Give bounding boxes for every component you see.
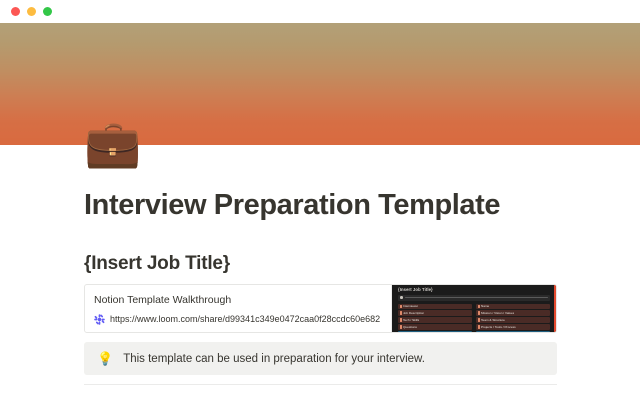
thumbnail-row: Interviewer bbox=[398, 304, 472, 310]
divider bbox=[84, 384, 557, 385]
thumbnail-left-column: Interviewer Job Description Tech / Skill… bbox=[398, 304, 472, 333]
window-titlebar bbox=[0, 0, 640, 23]
maximize-button[interactable] bbox=[43, 7, 52, 16]
row-label: Team & Structure bbox=[481, 318, 505, 322]
thumbnail-callout-icon bbox=[400, 296, 403, 299]
page-body: Interview Preparation Template {Insert J… bbox=[0, 145, 640, 400]
minimize-button[interactable] bbox=[27, 7, 36, 16]
thumbnail-heading: {Insert Job Title} bbox=[398, 287, 550, 293]
thumbnail-row: Name bbox=[476, 304, 550, 310]
lightbulb-icon: 💡 bbox=[97, 351, 113, 367]
thumbnail-columns: Interviewer Job Description Tech / Skill… bbox=[398, 304, 550, 333]
row-label: Mission / Vision / Values bbox=[481, 311, 514, 315]
thumbnail-row: Projects / Tools / Process bbox=[476, 324, 550, 330]
bookmark-text-area: Notion Template Walkthrough bbox=[85, 285, 391, 332]
close-button[interactable] bbox=[11, 7, 20, 16]
browser-window: 💼 Interview Preparation Template {Insert… bbox=[0, 0, 640, 400]
row-chip bbox=[478, 311, 480, 315]
bookmark-card[interactable]: Notion Template Walkthrough bbox=[84, 284, 557, 333]
bookmark-url-row: https://www.loom.com/share/d99341c349e04… bbox=[94, 313, 381, 325]
bookmark-thumbnail[interactable]: {Insert Job Title} Interviewer bbox=[391, 285, 556, 332]
row-label: Job Description bbox=[403, 311, 424, 315]
bookmark-title: Notion Template Walkthrough bbox=[94, 293, 381, 307]
thumbnail-row: Take Notes bbox=[398, 331, 472, 332]
row-chip bbox=[400, 311, 402, 315]
page-title[interactable]: Interview Preparation Template bbox=[84, 189, 500, 222]
thumbnail-row: Follow-up Questions bbox=[476, 331, 550, 332]
thumbnail-callout-textbar bbox=[405, 297, 549, 299]
bookmark-url[interactable]: https://www.loom.com/share/d99341c349e04… bbox=[110, 313, 380, 325]
thumbnail-row: Team & Structure bbox=[476, 317, 550, 323]
row-label: Name bbox=[481, 304, 489, 308]
row-chip bbox=[478, 325, 480, 329]
thumbnail-preview-content: {Insert Job Title} Interviewer bbox=[398, 287, 550, 330]
row-chip bbox=[400, 325, 402, 329]
traffic-light-buttons bbox=[11, 7, 52, 16]
thumbnail-row: Job Description bbox=[398, 310, 472, 316]
row-label: Questions bbox=[403, 325, 417, 329]
thumbnail-row: Questions bbox=[398, 324, 472, 330]
row-chip bbox=[478, 318, 480, 322]
row-chip bbox=[400, 318, 402, 322]
page-icon-briefcase[interactable]: 💼 bbox=[84, 116, 138, 170]
thumbnail-row: Mission / Vision / Values bbox=[476, 310, 550, 316]
callout-block[interactable]: 💡 This template can be used in preparati… bbox=[84, 342, 557, 375]
callout-text: This template can be used in preparation… bbox=[123, 351, 425, 367]
row-label: Interviewer bbox=[403, 304, 418, 308]
row-label: Tech / Skills bbox=[403, 318, 419, 322]
row-chip bbox=[478, 305, 480, 309]
thumbnail-callout bbox=[398, 295, 550, 301]
row-label: Projects / Tools / Process bbox=[481, 325, 516, 329]
row-chip bbox=[400, 305, 402, 309]
loom-icon bbox=[94, 314, 105, 325]
thumbnail-accent-bar bbox=[554, 285, 556, 332]
section-heading-job-title[interactable]: {Insert Job Title} bbox=[84, 253, 230, 275]
thumbnail-right-column: Name Mission / Vision / Values Team & St… bbox=[476, 304, 550, 333]
thumbnail-row: Tech / Skills bbox=[398, 317, 472, 323]
